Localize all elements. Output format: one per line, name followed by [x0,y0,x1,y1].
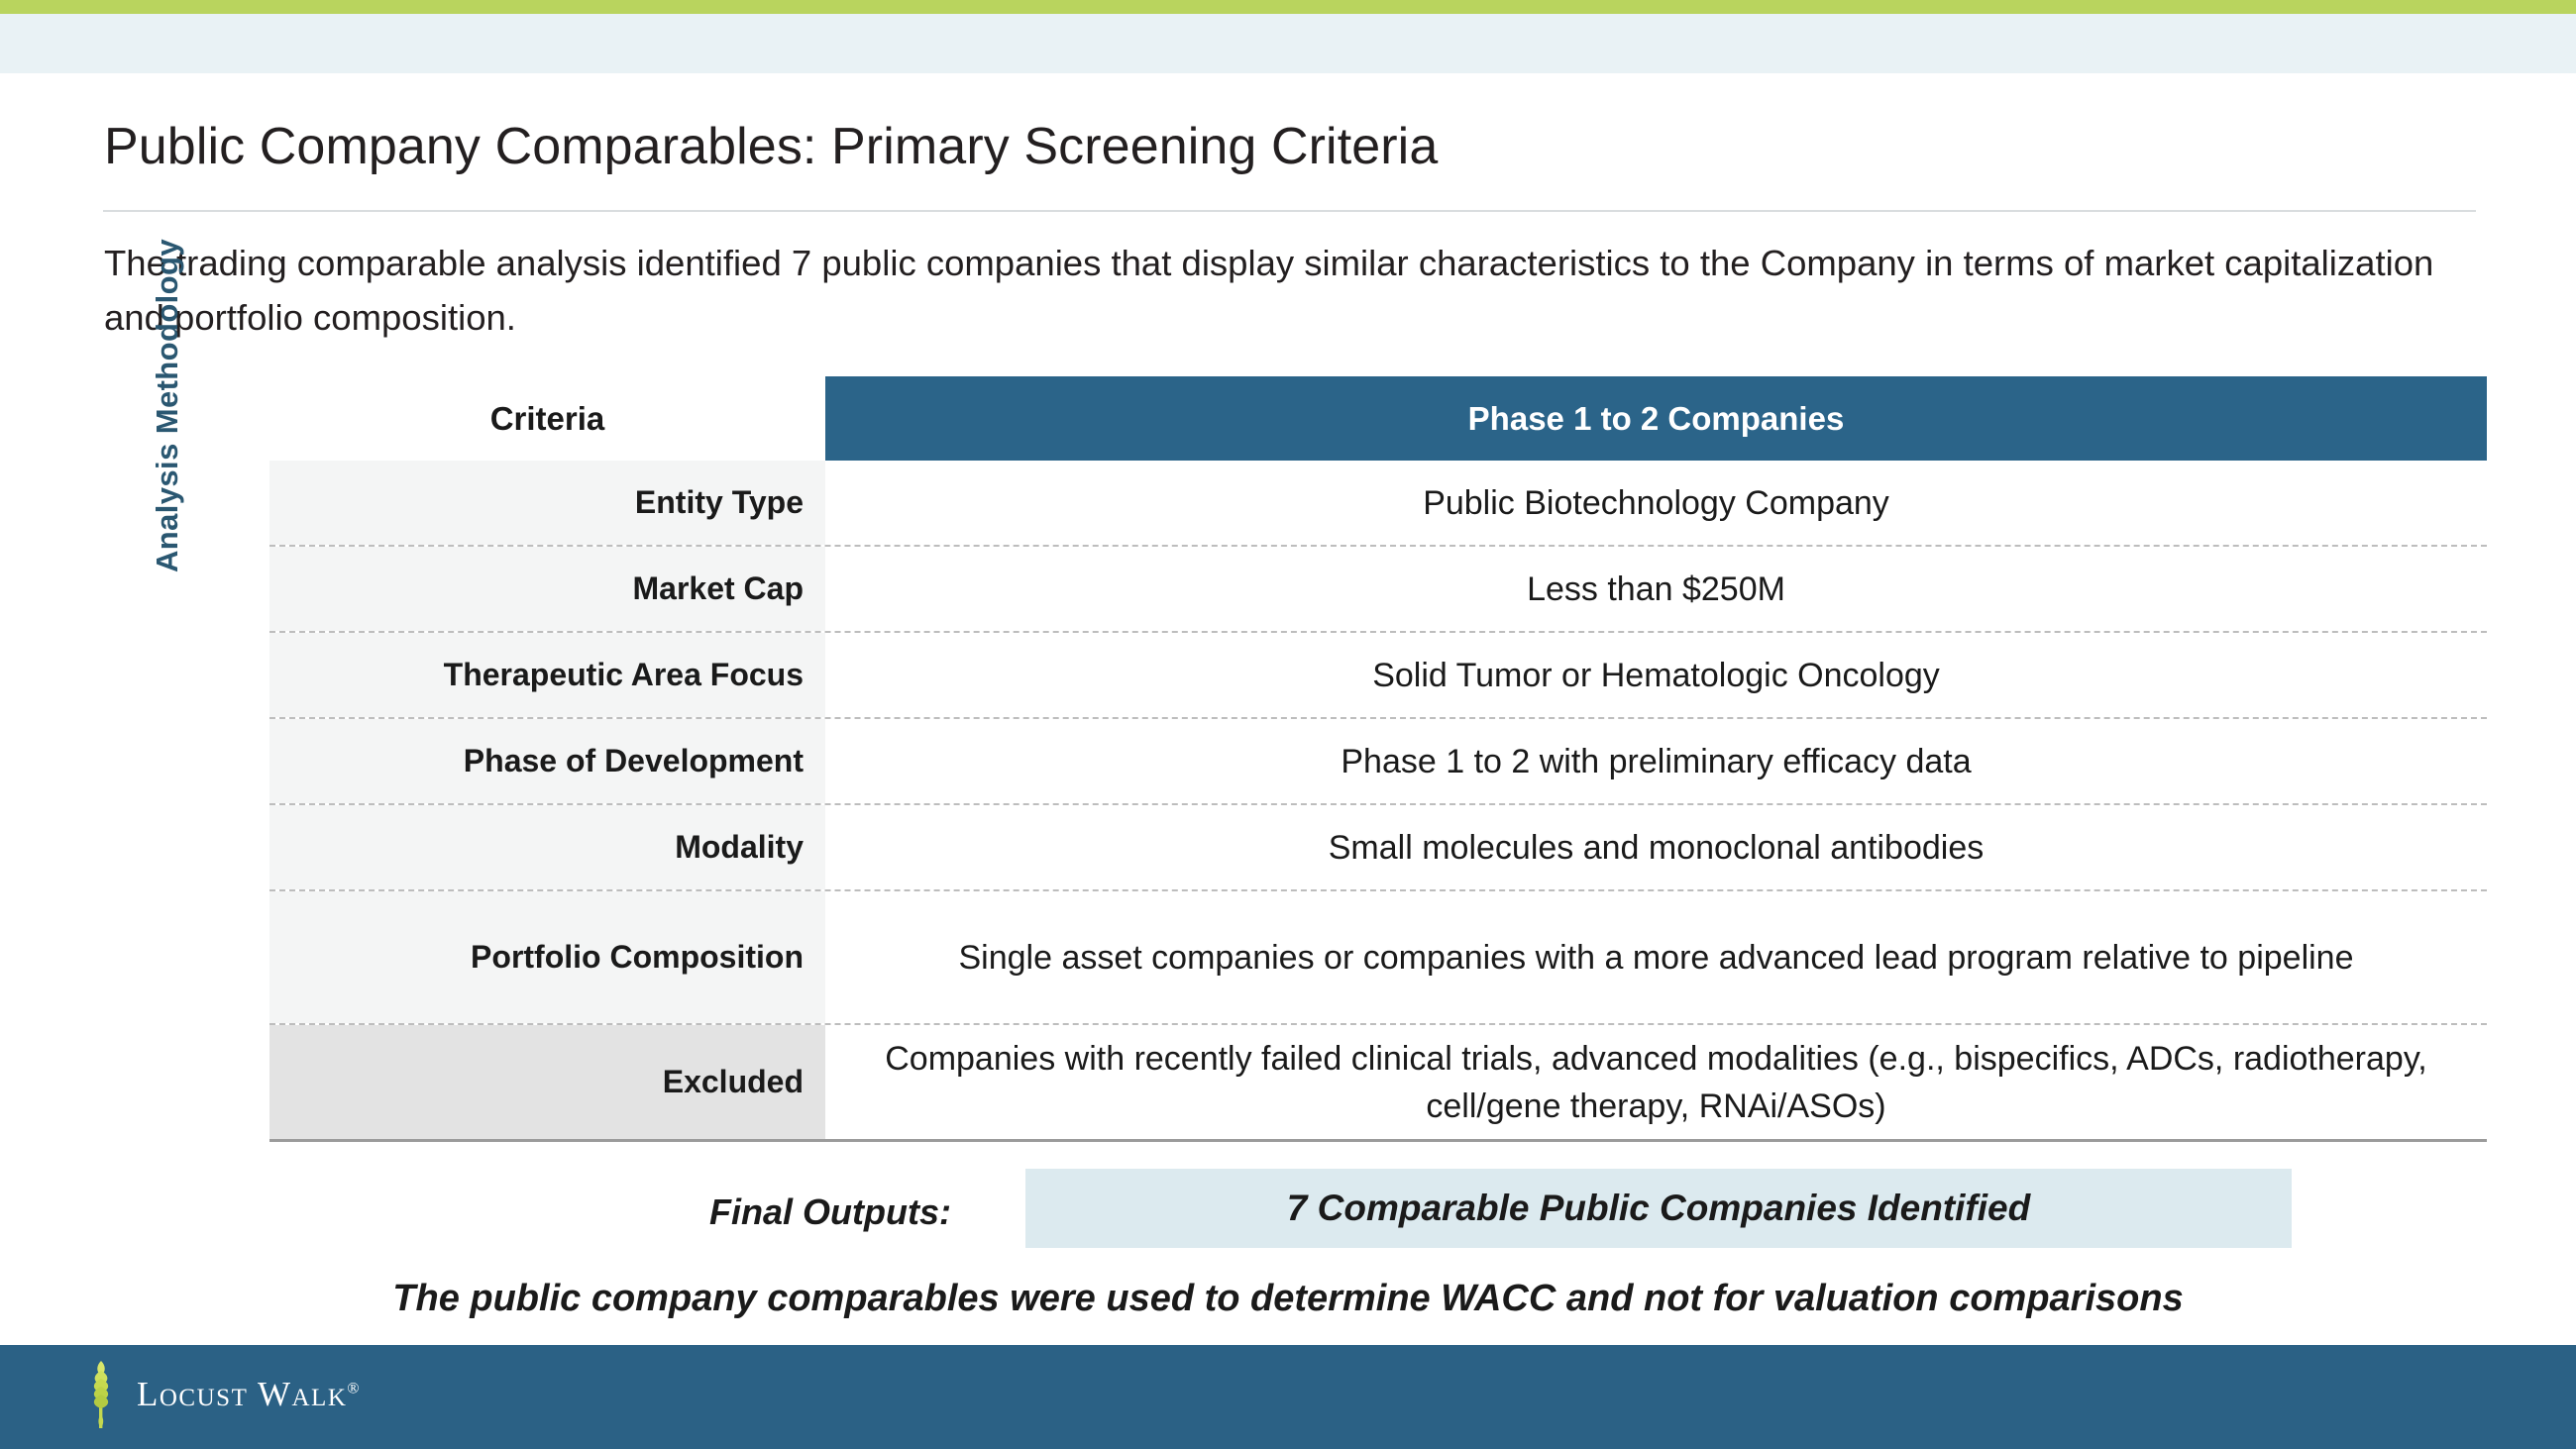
row-label-therapeutic-area-focus: Therapeutic Area Focus [269,633,825,717]
row-value-excluded: Companies with recently failed clinical … [825,1025,2487,1139]
row-value-phase-of-development: Phase 1 to 2 with preliminary efficacy d… [825,719,2487,803]
row-label-modality: Modality [269,805,825,889]
row-label-portfolio-composition: Portfolio Composition [269,891,825,1023]
row-value-therapeutic-area-focus: Solid Tumor or Hematologic Oncology [825,633,2487,717]
table-header-criteria: Criteria [269,376,825,461]
table-row: Therapeutic Area Focus Solid Tumor or He… [269,633,2487,717]
row-value-modality: Small molecules and monoclonal antibodie… [825,805,2487,889]
page-title: Public Company Comparables: Primary Scre… [104,117,1438,176]
closing-note: The public company comparables were used… [0,1278,2576,1320]
intro-paragraph: The trading comparable analysis identifi… [104,236,2452,345]
footer-bar: Locust Walk® Source(s): Locust Walk Anal… [0,1345,2576,1449]
table-row: Modality Small molecules and monoclonal … [269,805,2487,889]
row-value-entity-type: Public Biotechnology Company [825,461,2487,545]
analysis-methodology-label: Analysis Methodology [150,77,197,572]
wheat-stalk-icon [79,1359,123,1430]
top-green-stripe [0,0,2576,14]
brand-logo: Locust Walk® [79,1359,361,1430]
top-blue-band [0,14,2576,73]
logo-wordmark: Locust Walk® [137,1375,361,1414]
final-outputs-box: 7 Comparable Public Companies Identified [1025,1169,2292,1248]
row-label-phase-of-development: Phase of Development [269,719,825,803]
screening-criteria-table: Criteria Phase 1 to 2 Companies Entity T… [269,376,2487,1139]
title-divider [103,210,2476,212]
table-header-phase: Phase 1 to 2 Companies [825,376,2487,461]
row-value-portfolio-composition: Single asset companies or companies with… [825,891,2487,1023]
final-outputs-label: Final Outputs: [644,1191,951,1233]
table-header-row: Criteria Phase 1 to 2 Companies [269,376,2487,461]
table-row: Market Cap Less than $250M [269,547,2487,631]
row-label-entity-type: Entity Type [269,461,825,545]
final-outputs-value: 7 Comparable Public Companies Identified [1287,1188,2030,1229]
table-row: Phase of Development Phase 1 to 2 with p… [269,719,2487,803]
table-bottom-divider [269,1139,2487,1142]
row-value-market-cap: Less than $250M [825,547,2487,631]
table-row: Entity Type Public Biotechnology Company [269,461,2487,545]
table-row: Excluded Companies with recently failed … [269,1025,2487,1139]
table-row: Portfolio Composition Single asset compa… [269,891,2487,1023]
row-label-excluded: Excluded [269,1025,825,1139]
slide-root: Public Company Comparables: Primary Scre… [0,0,2576,1449]
row-label-market-cap: Market Cap [269,547,825,631]
